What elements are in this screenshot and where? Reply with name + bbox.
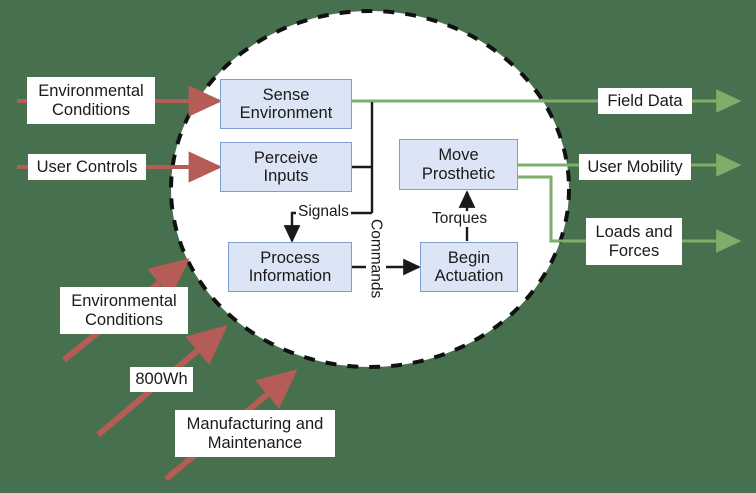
process-box-move-prosthetic[interactable]: Move Prosthetic: [399, 139, 518, 190]
input-label-line: Environmental: [38, 82, 143, 101]
input-label-manufacturing-and-maintenance[interactable]: Manufacturing and Maintenance: [175, 410, 335, 457]
process-label-line: Inputs: [264, 167, 309, 185]
process-label-line: Actuation: [435, 267, 504, 285]
output-label-line: User Mobility: [587, 158, 682, 177]
input-label-line: 800Wh: [135, 370, 187, 389]
flow-label-text: Torques: [432, 210, 487, 227]
input-label-line: Environmental: [71, 292, 176, 311]
input-label-line: User Controls: [37, 158, 138, 177]
process-label-line: Move: [438, 146, 478, 164]
input-label-line: Manufacturing and: [187, 415, 324, 434]
output-label-user-mobility[interactable]: User Mobility: [579, 154, 691, 180]
process-box-begin-actuation[interactable]: Begin Actuation: [420, 242, 518, 292]
process-box-process-information[interactable]: Process Information: [228, 242, 352, 292]
process-label-line: Begin: [448, 249, 490, 267]
flow-label-text: Signals: [298, 203, 349, 220]
process-label-line: Process: [260, 249, 320, 267]
input-label-environmental-conditions-bottom[interactable]: Environmental Conditions: [60, 287, 188, 334]
output-label-field-data[interactable]: Field Data: [598, 88, 692, 114]
process-label-line: Prosthetic: [422, 165, 495, 183]
input-label-line: Maintenance: [208, 434, 302, 453]
input-label-environmental-conditions-top[interactable]: Environmental Conditions: [27, 77, 155, 124]
process-box-perceive-inputs[interactable]: Perceive Inputs: [220, 142, 352, 192]
process-label-line: Sense: [263, 86, 310, 104]
output-label-line: Loads and: [595, 223, 672, 242]
process-label-line: Information: [249, 267, 332, 285]
process-label-line: Environment: [240, 104, 333, 122]
flow-label-commands: Commands: [366, 219, 386, 298]
flow-label-text: Commands: [368, 219, 385, 298]
process-label-line: Perceive: [254, 149, 318, 167]
output-label-loads-and-forces[interactable]: Loads and Forces: [586, 218, 682, 265]
flow-label-torques: Torques: [430, 211, 489, 227]
output-label-line: Forces: [609, 242, 659, 261]
process-box-sense-environment[interactable]: Sense Environment: [220, 79, 352, 129]
output-label-line: Field Data: [607, 92, 682, 111]
input-label-line: Conditions: [85, 311, 163, 330]
diagram-canvas: Sense Environment Perceive Inputs Proces…: [0, 0, 756, 493]
input-label-line: Conditions: [52, 101, 130, 120]
flow-label-signals: Signals: [296, 204, 351, 220]
input-label-energy-800wh[interactable]: 800Wh: [130, 367, 193, 392]
input-label-user-controls[interactable]: User Controls: [28, 154, 146, 180]
